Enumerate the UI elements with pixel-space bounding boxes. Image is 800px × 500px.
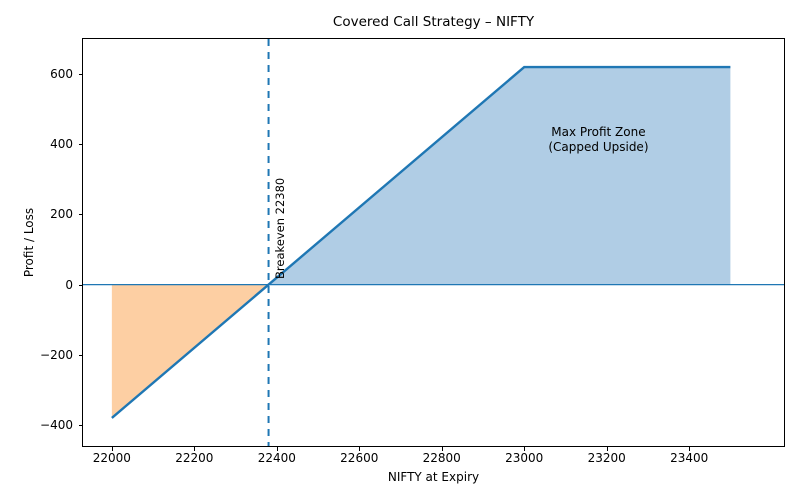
- x-tick-label: 22400: [258, 451, 296, 465]
- x-tick-label: 22800: [423, 451, 461, 465]
- y-tick-label: 0: [65, 278, 73, 292]
- x-axis-label: NIFTY at Expiry: [82, 470, 785, 484]
- x-tick-label: 22200: [175, 451, 213, 465]
- y-tick-mark: [79, 214, 83, 215]
- x-tick-label: 23400: [670, 451, 708, 465]
- y-tick-mark: [79, 355, 83, 356]
- y-tick-label: 400: [50, 137, 73, 151]
- max-profit-zone-annotation: Max Profit Zone (Capped Upside): [548, 125, 648, 155]
- x-tick-mark: [442, 447, 443, 451]
- plot-area: Breakeven 22380 Max Profit Zone (Capped …: [82, 38, 785, 447]
- x-tick-mark: [359, 447, 360, 451]
- x-tick-label: 22600: [340, 451, 378, 465]
- x-tick-mark: [524, 447, 525, 451]
- chart-title: Covered Call Strategy – NIFTY: [82, 14, 785, 30]
- profit-zone-fill: [269, 67, 731, 285]
- y-tick-mark: [79, 425, 83, 426]
- y-tick-mark: [79, 144, 83, 145]
- breakeven-annotation: Breakeven 22380: [273, 177, 287, 278]
- x-tick-mark: [277, 447, 278, 451]
- y-tick-label: −200: [40, 348, 73, 362]
- x-tick-mark: [607, 447, 608, 451]
- y-tick-label: 200: [50, 207, 73, 221]
- y-axis-label: Profit / Loss: [22, 38, 36, 447]
- payoff-plot: [83, 39, 784, 446]
- y-tick-label: 600: [50, 67, 73, 81]
- chart-figure: Covered Call Strategy – NIFTY Breakeven …: [0, 0, 800, 500]
- x-tick-mark: [194, 447, 195, 451]
- y-tick-label: −400: [40, 418, 73, 432]
- x-tick-label: 23000: [505, 451, 543, 465]
- x-tick-label: 23200: [588, 451, 626, 465]
- y-tick-mark: [79, 74, 83, 75]
- y-tick-mark: [79, 285, 83, 286]
- x-tick-mark: [689, 447, 690, 451]
- x-tick-label: 22000: [93, 451, 131, 465]
- x-tick-mark: [112, 447, 113, 451]
